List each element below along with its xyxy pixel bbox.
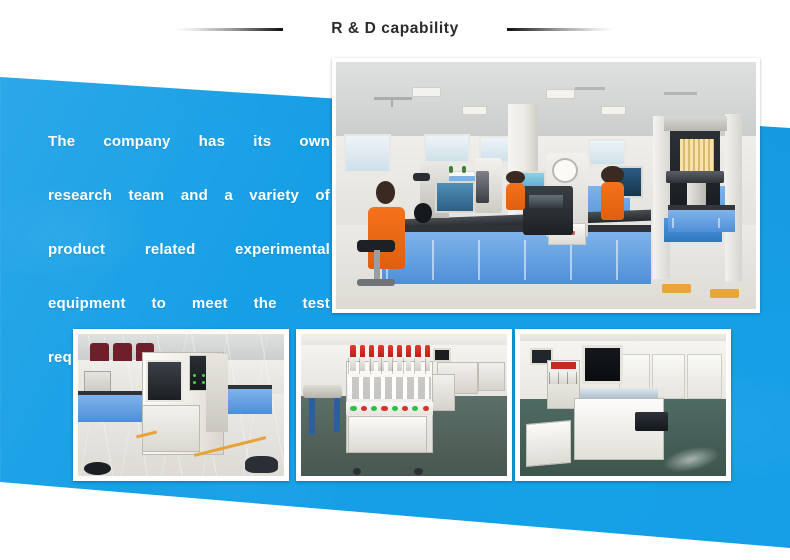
plant-4 bbox=[462, 166, 466, 173]
chamber-lower-door bbox=[142, 405, 200, 452]
stool-post bbox=[374, 250, 380, 282]
red-test-fixture-9 bbox=[425, 345, 430, 358]
red-test-fixture-3 bbox=[369, 345, 374, 358]
red-test-fixture-1 bbox=[350, 345, 355, 358]
red-test-fixture-6 bbox=[397, 345, 402, 358]
stool-base bbox=[357, 279, 395, 285]
machine-display-screen bbox=[582, 345, 623, 383]
utm-background-window bbox=[680, 139, 714, 171]
glass-partition-3 bbox=[687, 354, 722, 399]
utm-foot-left bbox=[662, 284, 691, 293]
side-table-leg-2 bbox=[334, 398, 340, 432]
thumbnail-photo-3 bbox=[515, 329, 731, 481]
chair-1 bbox=[90, 343, 109, 361]
red-test-fixture-4 bbox=[378, 345, 383, 358]
bench-left bbox=[78, 391, 144, 422]
thumbnail-3-scene bbox=[520, 334, 726, 476]
monitor-left bbox=[435, 181, 475, 213]
window-mid-left bbox=[424, 134, 470, 164]
chamber-side-panel bbox=[206, 354, 229, 432]
control-button-row bbox=[346, 402, 433, 415]
pillar-right-1 bbox=[653, 116, 670, 279]
technician-orange-shirt bbox=[506, 183, 525, 211]
machine-access-panel bbox=[635, 412, 668, 430]
rd-capability-banner: R & D capability The company has its own… bbox=[0, 0, 790, 560]
thumbnail-photo-2 bbox=[296, 329, 512, 481]
window-left bbox=[344, 134, 390, 174]
white-storage-box bbox=[526, 420, 571, 467]
main-photo-laboratory bbox=[332, 58, 760, 313]
technician-middle bbox=[506, 171, 525, 211]
thumbnail-photo-1 bbox=[73, 329, 289, 481]
red-test-fixture-2 bbox=[360, 345, 365, 358]
utm-brand-bar bbox=[666, 171, 725, 183]
status-led-2 bbox=[202, 374, 205, 377]
section-header: R & D capability bbox=[0, 0, 790, 58]
thumbnail-1-scene bbox=[78, 334, 284, 476]
equipment-bag bbox=[245, 456, 278, 473]
description-line-1: The company has its own bbox=[48, 128, 330, 182]
main-photo-scene bbox=[336, 62, 756, 309]
indicator-red-4 bbox=[423, 406, 429, 412]
indicator-green-3 bbox=[392, 406, 398, 412]
rig-cabinet-body bbox=[348, 416, 426, 453]
control-console bbox=[523, 186, 573, 235]
ceiling-fan-icon-1 bbox=[374, 97, 412, 100]
bench-main-cabinets bbox=[382, 225, 651, 284]
chair-2 bbox=[113, 343, 132, 361]
floor-mat bbox=[84, 462, 111, 475]
hardness-tester-1-column bbox=[476, 171, 489, 203]
instrument-module-row bbox=[348, 358, 430, 374]
bench-right-cabinets bbox=[668, 205, 735, 232]
technician-head bbox=[376, 181, 396, 204]
pillar-right-2 bbox=[725, 114, 743, 282]
ceiling-light-2 bbox=[546, 89, 575, 99]
ceiling-light-4 bbox=[462, 106, 487, 115]
caster-wheel-left bbox=[353, 468, 361, 475]
background-monitor bbox=[433, 348, 452, 362]
utm-foot-right bbox=[710, 289, 739, 298]
rack-control-switches bbox=[549, 372, 578, 383]
technician-right bbox=[601, 166, 624, 220]
red-test-fixture-7 bbox=[406, 345, 411, 358]
thumbnail-2-scene bbox=[301, 334, 507, 476]
description-line-3: product related experimental bbox=[48, 236, 330, 290]
side-table-top bbox=[303, 385, 342, 398]
console-panel bbox=[529, 195, 563, 207]
status-led-5 bbox=[202, 381, 205, 384]
gradient-line-icon-left bbox=[175, 28, 283, 31]
chamber-viewing-window bbox=[146, 360, 183, 403]
indicator-green-1 bbox=[350, 406, 356, 412]
utm-crosshead bbox=[664, 116, 727, 131]
sample-holder-row bbox=[348, 377, 430, 400]
ceiling-light-1 bbox=[412, 87, 441, 97]
side-table-leg-1 bbox=[309, 398, 315, 435]
gradient-line-icon-right bbox=[507, 28, 615, 31]
ceiling-fan-icon-3 bbox=[664, 92, 698, 95]
technician-orange-shirt bbox=[601, 182, 624, 220]
plant-3 bbox=[449, 166, 453, 173]
red-test-fixture-5 bbox=[388, 345, 393, 358]
red-test-fixture-8 bbox=[415, 345, 420, 358]
description-line-2: research team and a variety of bbox=[48, 182, 330, 236]
background-cabinet bbox=[478, 362, 505, 390]
caster-wheel-right bbox=[414, 468, 422, 475]
ceiling-fan-icon-2 bbox=[575, 87, 604, 90]
projector-lens bbox=[414, 203, 432, 223]
window-mid-right bbox=[588, 139, 626, 166]
indicator-red-2 bbox=[381, 406, 387, 412]
ceiling-light-3 bbox=[601, 106, 626, 115]
page-title: R & D capability bbox=[283, 20, 507, 38]
rack-red-banner bbox=[551, 362, 576, 369]
